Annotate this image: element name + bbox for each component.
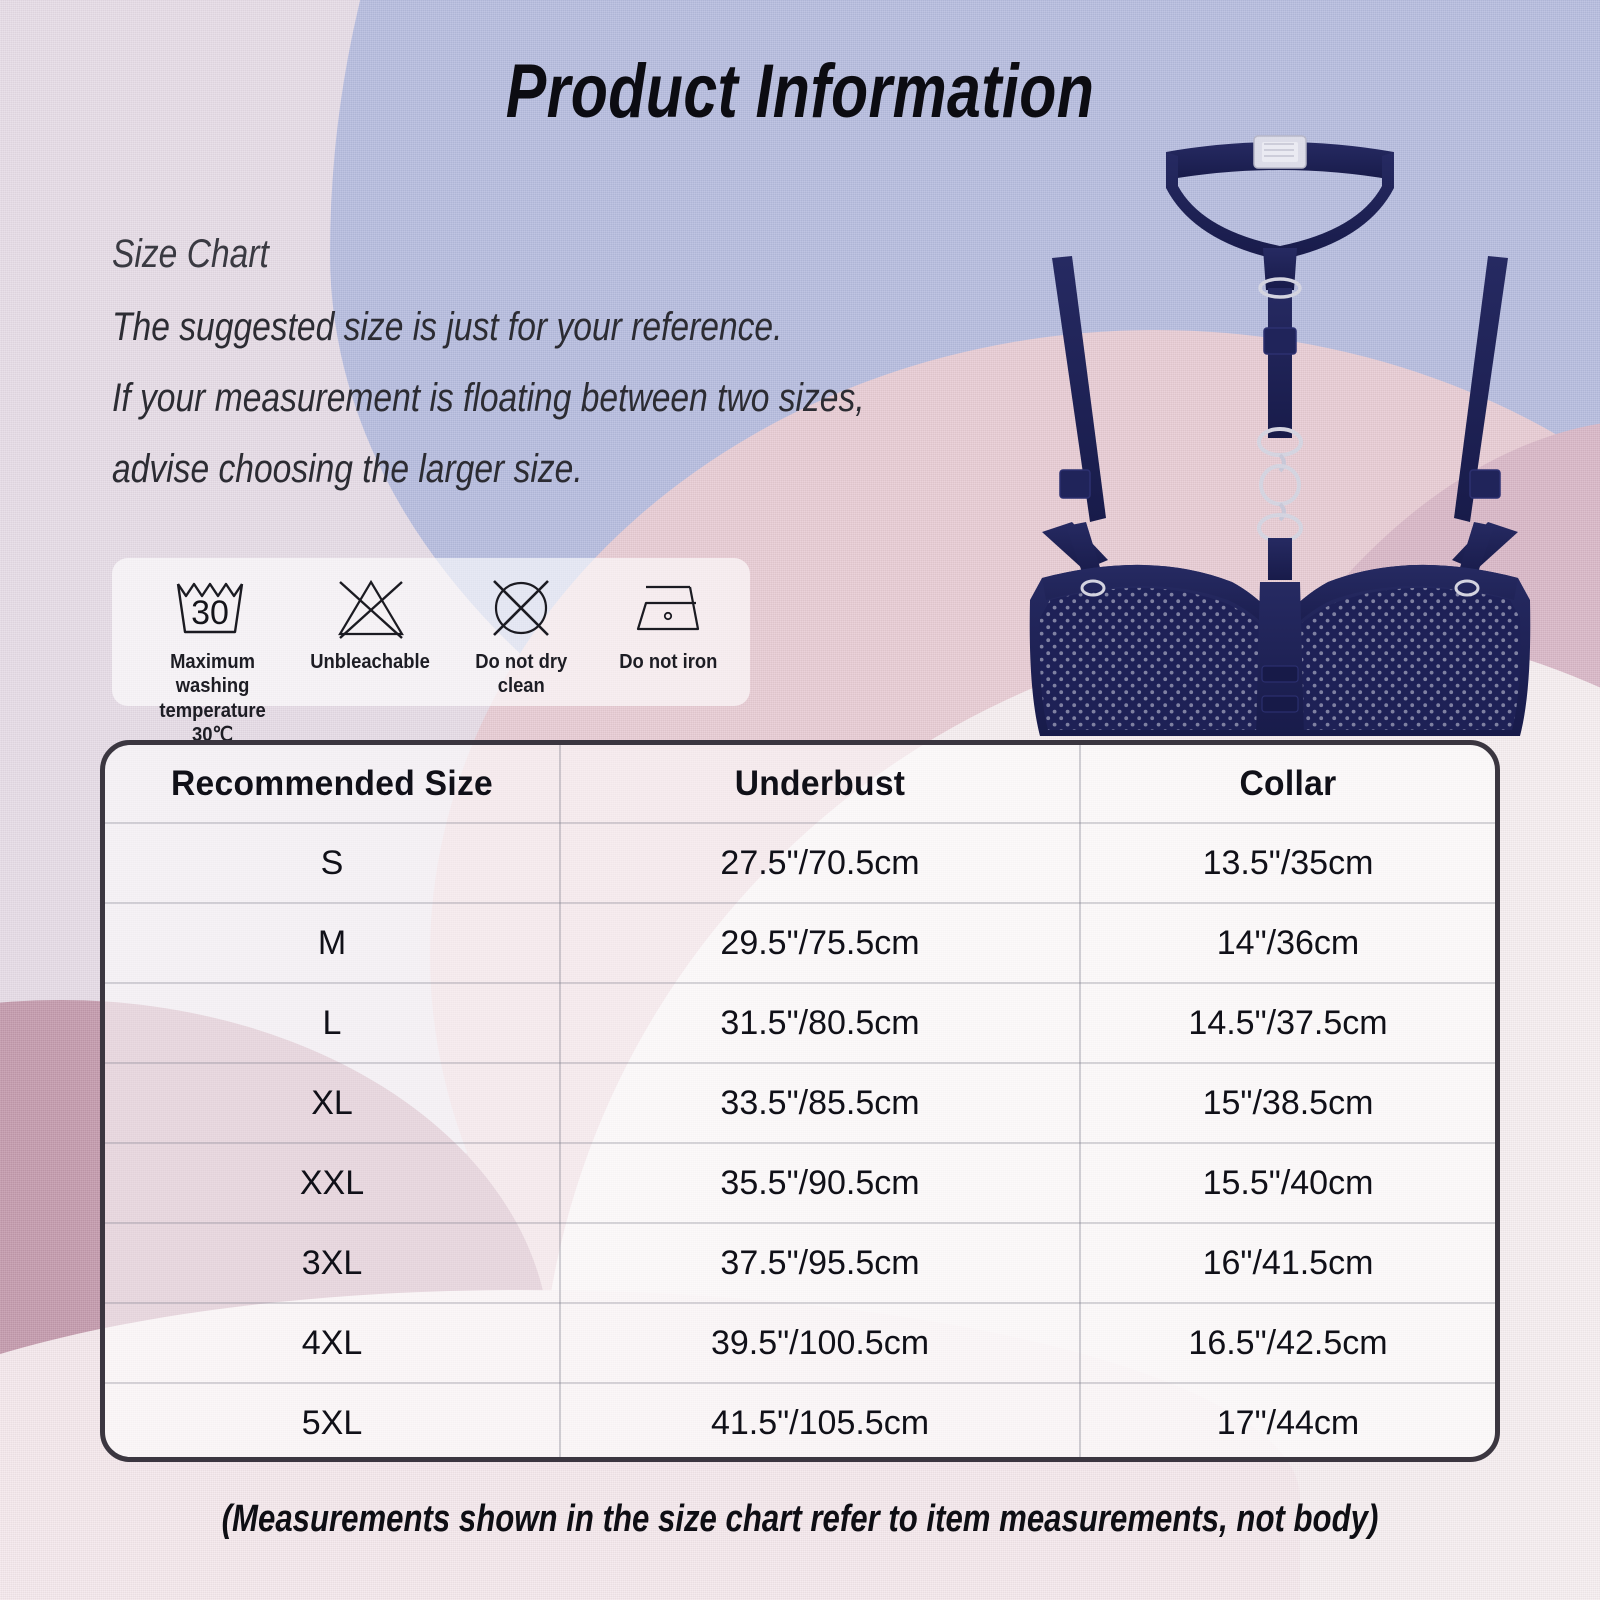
- cell-collar: 13.5"/35cm: [1080, 823, 1495, 903]
- size-chart-table: Recommended Size Underbust Collar S 27.5…: [100, 740, 1500, 1462]
- care-label-iron: Do not iron: [619, 650, 717, 674]
- table-row: M 29.5"/75.5cm 14"/36cm: [105, 903, 1495, 983]
- care-label-bleach: Unbleachable: [311, 650, 431, 674]
- cell-collar: 15.5"/40cm: [1080, 1143, 1495, 1223]
- cell-collar: 14.5"/37.5cm: [1080, 983, 1495, 1063]
- table-header-row: Recommended Size Underbust Collar: [105, 745, 1495, 823]
- table-row: 4XL 39.5"/100.5cm 16.5"/42.5cm: [105, 1303, 1495, 1383]
- cell-underbust: 35.5"/90.5cm: [560, 1143, 1080, 1223]
- cell-size: M: [105, 903, 560, 983]
- intro-line-3: advise choosing the larger size.: [112, 447, 865, 492]
- size-chart-intro: Size Chart The suggested size is just fo…: [112, 232, 1008, 518]
- column-header-size: Recommended Size: [114, 745, 551, 823]
- do-not-iron-icon: [630, 576, 706, 640]
- care-item-bleach: Unbleachable: [303, 576, 438, 674]
- cell-collar: 16"/41.5cm: [1080, 1223, 1495, 1303]
- table-row: S 27.5"/70.5cm 13.5"/35cm: [105, 823, 1495, 903]
- product-image: [980, 130, 1580, 740]
- care-instructions-panel: 30 Maximum washingtemperature 30℃ Unblea…: [112, 558, 750, 706]
- intro-line-2: If your measurement is floating between …: [112, 376, 865, 421]
- choker-collar: [1166, 136, 1394, 260]
- care-label-wash: Maximum washingtemperature 30℃: [142, 650, 283, 748]
- measurement-footnote: (Measurements shown in the size chart re…: [144, 1498, 1456, 1541]
- cell-size: 5XL: [105, 1383, 560, 1462]
- cell-collar: 15"/38.5cm: [1080, 1063, 1495, 1143]
- cell-underbust: 33.5"/85.5cm: [560, 1063, 1080, 1143]
- care-item-wash: 30 Maximum washingtemperature 30℃: [136, 576, 289, 748]
- cell-collar: 16.5"/42.5cm: [1080, 1303, 1495, 1383]
- cell-underbust: 31.5"/80.5cm: [560, 983, 1080, 1063]
- cell-size: L: [105, 983, 560, 1063]
- cell-underbust: 27.5"/70.5cm: [560, 823, 1080, 903]
- intro-line-1: The suggested size is just for your refe…: [112, 305, 865, 350]
- column-header-underbust: Underbust: [570, 745, 1069, 823]
- cell-collar: 17"/44cm: [1080, 1383, 1495, 1462]
- cell-underbust: 37.5"/95.5cm: [560, 1223, 1080, 1303]
- cell-underbust: 39.5"/100.5cm: [560, 1303, 1080, 1383]
- table-row: XXL 35.5"/90.5cm 15.5"/40cm: [105, 1143, 1495, 1223]
- product-information-page: Product Information Size Chart The sugge…: [0, 0, 1600, 1600]
- cell-underbust: 29.5"/75.5cm: [560, 903, 1080, 983]
- cell-underbust: 41.5"/105.5cm: [560, 1383, 1080, 1462]
- table-row: L 31.5"/80.5cm 14.5"/37.5cm: [105, 983, 1495, 1063]
- lace-cup-band: [1030, 565, 1531, 736]
- center-strap: [1260, 248, 1300, 438]
- ring-chain-connector: [1259, 429, 1301, 580]
- care-item-dry-clean: Do not dry clean: [452, 576, 591, 699]
- cell-size: XXL: [105, 1143, 560, 1223]
- care-item-iron: Do not iron: [604, 576, 732, 674]
- table-row: XL 33.5"/85.5cm 15"/38.5cm: [105, 1063, 1495, 1143]
- cell-size: S: [105, 823, 560, 903]
- cell-collar: 14"/36cm: [1080, 903, 1495, 983]
- page-title: Product Information: [160, 48, 1440, 135]
- do-not-bleach-icon: [332, 576, 410, 640]
- table-row: 5XL 41.5"/105.5cm 17"/44cm: [105, 1383, 1495, 1462]
- wash-30-icon: 30: [170, 576, 256, 640]
- cell-size: 4XL: [105, 1303, 560, 1383]
- table-row: 3XL 37.5"/95.5cm 16"/41.5cm: [105, 1223, 1495, 1303]
- care-label-dry-clean: Do not dry clean: [457, 650, 584, 699]
- svg-text:30: 30: [191, 594, 229, 632]
- cell-size: 3XL: [105, 1223, 560, 1303]
- do-not-dry-clean-icon: [485, 576, 557, 640]
- size-chart-heading: Size Chart: [112, 232, 865, 277]
- cell-size: XL: [105, 1063, 560, 1143]
- column-header-collar: Collar: [1088, 745, 1486, 823]
